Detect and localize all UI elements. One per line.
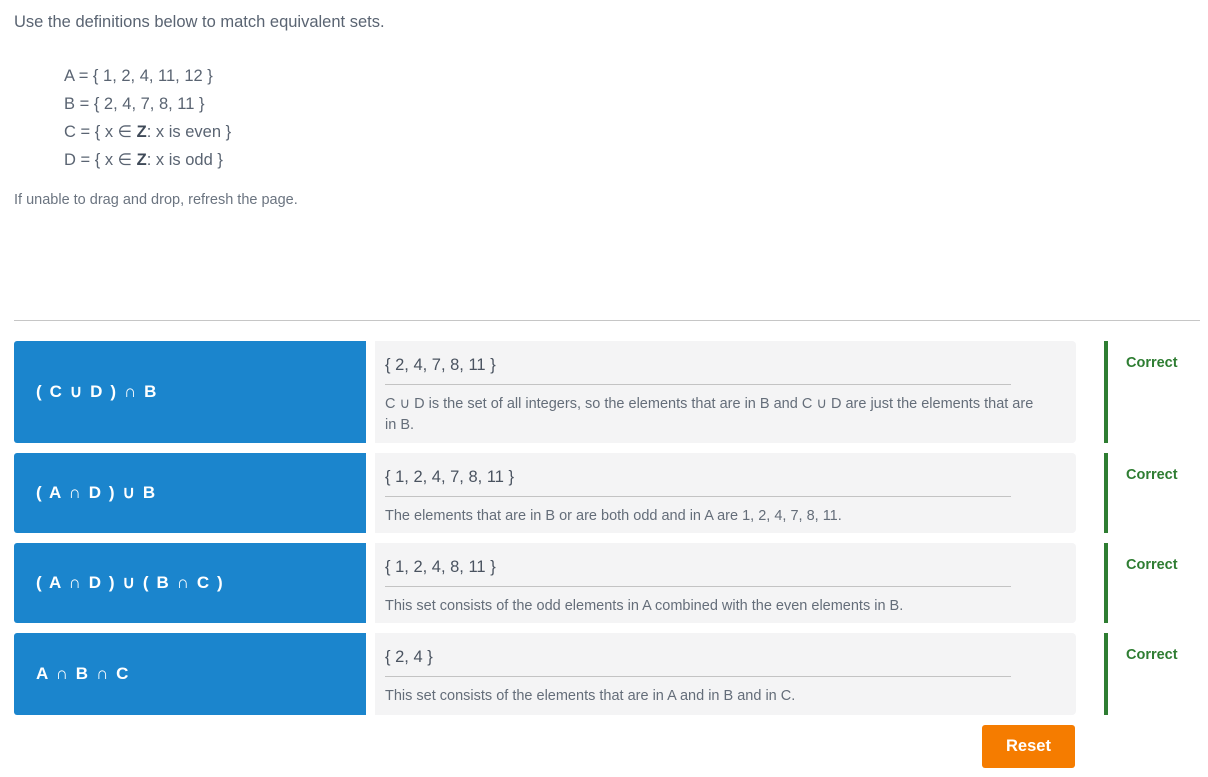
verdict: Correct: [1104, 633, 1208, 715]
expression-tile[interactable]: ( A ∩ D ) ∪ B: [14, 453, 366, 533]
definition-name-a: A: [64, 67, 74, 85]
verdict: Correct: [1104, 341, 1208, 443]
answer-explanation: C ∪ D is the set of all integers, so the…: [385, 385, 1038, 435]
answer-panel: { 1, 2, 4, 8, 11 } This set consists of …: [375, 543, 1076, 623]
definition-suffix-c: : x is even }: [147, 123, 231, 141]
status-badge: Correct: [1126, 355, 1178, 371]
answer-panel: { 2, 4 } This set consists of the elemen…: [375, 633, 1076, 715]
table-row: ( A ∩ D ) ∪ B { 1, 2, 4, 7, 8, 11 } The …: [0, 453, 1208, 533]
answer-panel: { 1, 2, 4, 7, 8, 11 } The elements that …: [375, 453, 1076, 533]
integers-symbol-d: Z: [137, 151, 147, 169]
expression-tile[interactable]: A ∩ B ∩ C: [14, 633, 366, 715]
status-badge: Correct: [1126, 647, 1178, 663]
table-row: ( A ∩ D ) ∪ ( B ∩ C ) { 1, 2, 4, 8, 11 }…: [0, 543, 1208, 623]
definition-line-d: D = { x ∈ Z: x is odd }: [64, 146, 231, 174]
answer-set-value: { 2, 4, 7, 8, 11 }: [385, 354, 1011, 385]
verdict: Correct: [1104, 543, 1208, 623]
definition-line-c: C = { x ∈ Z: x is even }: [64, 118, 231, 146]
definition-name-c: C: [64, 123, 76, 141]
table-row: ( C ∪ D ) ∩ B { 2, 4, 7, 8, 11 } C ∪ D i…: [0, 341, 1208, 443]
section-divider: [14, 320, 1200, 321]
verdict: Correct: [1104, 453, 1208, 533]
answer-panel: { 2, 4, 7, 8, 11 } C ∪ D is the set of a…: [375, 341, 1076, 443]
definition-line-b: B = { 2, 4, 7, 8, 11 }: [64, 90, 231, 118]
answer-set-value: { 1, 2, 4, 7, 8, 11 }: [385, 466, 1011, 497]
definition-prefix-d: = { x ∈: [81, 151, 137, 169]
definition-prefix-c: = { x ∈: [81, 123, 137, 141]
answer-set-value: { 1, 2, 4, 8, 11 }: [385, 556, 1011, 587]
verdict-bar-icon: [1104, 453, 1108, 533]
definition-line-a: A = { 1, 2, 4, 11, 12 }: [64, 62, 231, 90]
answer-explanation: This set consists of the elements that a…: [385, 677, 1038, 707]
page-title: Use the definitions below to match equiv…: [14, 11, 1114, 33]
answer-explanation: This set consists of the odd elements in…: [385, 587, 1038, 617]
status-badge: Correct: [1126, 557, 1178, 573]
expression-tile[interactable]: ( A ∩ D ) ∪ ( B ∩ C ): [14, 543, 366, 623]
footer: Reset: [0, 725, 1208, 775]
set-definitions: A = { 1, 2, 4, 11, 12 } B = { 2, 4, 7, 8…: [64, 62, 231, 174]
match-rows: ( C ∪ D ) ∩ B { 2, 4, 7, 8, 11 } C ∪ D i…: [0, 341, 1208, 725]
definition-value-a: = { 1, 2, 4, 11, 12 }: [79, 67, 213, 85]
exercise-page: Use the definitions below to match equiv…: [0, 0, 1208, 777]
answer-explanation: The elements that are in B or are both o…: [385, 497, 1038, 527]
integers-symbol-c: Z: [137, 123, 147, 141]
verdict-bar-icon: [1104, 341, 1108, 443]
answer-set-value: { 2, 4 }: [385, 646, 1011, 677]
definition-name-b: B: [64, 95, 75, 113]
definition-suffix-d: : x is odd }: [147, 151, 223, 169]
drag-drop-hint: If unable to drag and drop, refresh the …: [14, 191, 298, 210]
status-badge: Correct: [1126, 467, 1178, 483]
definition-name-d: D: [64, 151, 76, 169]
definition-value-b: = { 2, 4, 7, 8, 11 }: [80, 95, 205, 113]
table-row: A ∩ B ∩ C { 2, 4 } This set consists of …: [0, 633, 1208, 715]
verdict-bar-icon: [1104, 633, 1108, 715]
expression-tile[interactable]: ( C ∪ D ) ∩ B: [14, 341, 366, 443]
reset-button[interactable]: Reset: [982, 725, 1075, 768]
verdict-bar-icon: [1104, 543, 1108, 623]
